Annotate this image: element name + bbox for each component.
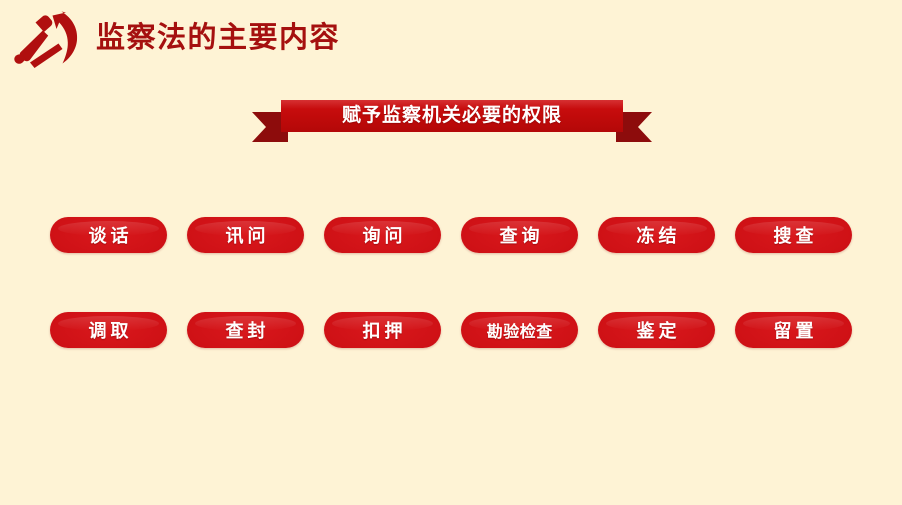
pill-item[interactable]: 留置 xyxy=(735,312,852,348)
pill-label: 查封 xyxy=(222,317,270,343)
pill-item[interactable]: 鉴定 xyxy=(598,312,715,348)
pill-item[interactable]: 勘验检查 xyxy=(461,312,578,348)
pill-item[interactable]: 询问 xyxy=(324,217,441,253)
pill-label: 扣押 xyxy=(359,317,407,343)
pill-row-1: 谈话 讯问 询问 查询 冻结 搜查 xyxy=(50,217,852,253)
hammer-and-sickle-icon xyxy=(14,9,88,73)
pill-label: 鉴定 xyxy=(633,317,681,343)
pill-label: 谈话 xyxy=(85,222,133,248)
pill-item[interactable]: 谈话 xyxy=(50,217,167,253)
pill-label: 冻结 xyxy=(633,222,681,248)
pill-item[interactable]: 查询 xyxy=(461,217,578,253)
pill-item[interactable]: 冻结 xyxy=(598,217,715,253)
pill-label: 查询 xyxy=(496,222,544,248)
pill-label: 讯问 xyxy=(222,222,270,248)
pill-item[interactable]: 扣押 xyxy=(324,312,441,348)
pill-row-2: 调取 查封 扣押 勘验检查 鉴定 留置 xyxy=(50,312,852,348)
slide-header: 监察法的主要内容 xyxy=(0,0,902,78)
page-title: 监察法的主要内容 xyxy=(96,17,340,59)
pill-label: 调取 xyxy=(85,317,133,343)
pill-item[interactable]: 调取 xyxy=(50,312,167,348)
section-ribbon-banner: 赋予监察机关必要的权限 xyxy=(252,96,652,142)
pill-label: 勘验检查 xyxy=(486,318,553,342)
pill-label: 询问 xyxy=(359,222,407,248)
pill-item[interactable]: 查封 xyxy=(187,312,304,348)
pill-label: 留置 xyxy=(770,317,818,343)
pill-label: 搜查 xyxy=(770,222,818,248)
slide-canvas: 监察法的主要内容 赋予监察机关必要的权限 谈话 讯问 询问 查询 冻结 搜查 调… xyxy=(0,0,902,505)
ribbon-label: 赋予监察机关必要的权限 xyxy=(281,100,623,132)
pill-item[interactable]: 讯问 xyxy=(187,217,304,253)
pill-item[interactable]: 搜查 xyxy=(735,217,852,253)
